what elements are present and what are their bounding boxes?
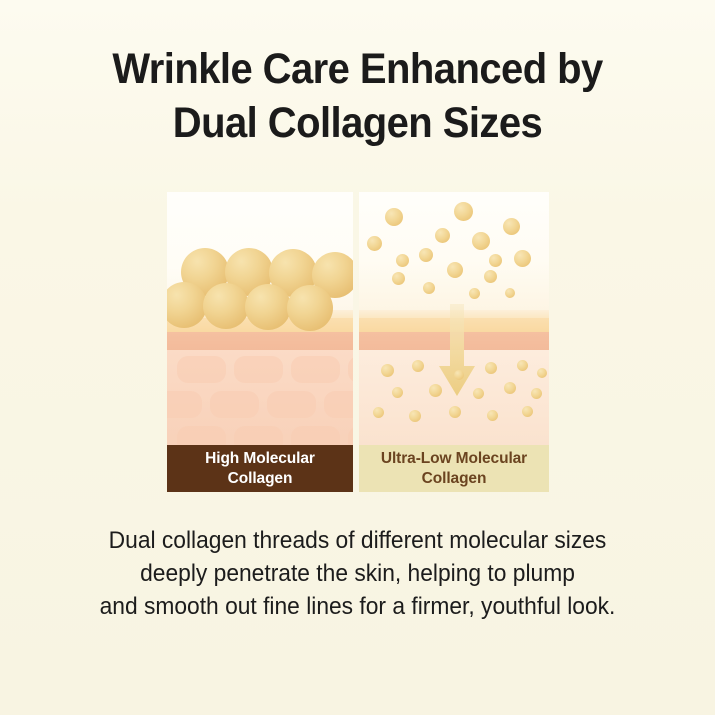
collagen-particle	[392, 272, 405, 285]
label-line-2: Collagen	[228, 469, 293, 489]
collagen-particle	[449, 406, 461, 418]
collagen-particle	[484, 270, 497, 283]
collagen-particle	[504, 382, 516, 394]
collagen-particle	[454, 370, 464, 380]
body-copy-line-3: and smooth out fine lines for a firmer, …	[18, 590, 697, 623]
collagen-cell	[210, 391, 259, 418]
promo-graphic-page: { "background_color": "#faf6e4", "title"…	[0, 0, 715, 715]
collagen-cell-row	[167, 356, 353, 383]
collagen-particle	[419, 248, 433, 262]
page-title-line-1: Wrinkle Care Enhanced by	[25, 42, 690, 96]
label-line-2: Collagen	[422, 469, 487, 489]
page-title: Wrinkle Care Enhanced by Dual Collagen S…	[25, 42, 690, 150]
label-line-1: Ultra-Low Molecular	[381, 449, 527, 469]
collagen-particle	[454, 202, 473, 221]
collagen-sphere	[287, 285, 333, 331]
label-line-1: High Molecular	[205, 449, 315, 469]
page-title-line-2: Dual Collagen Sizes	[25, 96, 690, 150]
label-band-high-molecular: High Molecular Collagen	[167, 445, 353, 492]
down-arrow-icon	[439, 304, 475, 402]
collagen-particle	[385, 208, 403, 226]
collagen-particle	[489, 254, 502, 267]
collagen-particle	[396, 254, 409, 267]
collagen-particle	[435, 228, 450, 243]
body-copy: Dual collagen threads of different molec…	[18, 524, 697, 623]
collagen-particle	[423, 282, 435, 294]
collagen-particle	[469, 288, 480, 299]
collagen-cell	[267, 391, 316, 418]
collagen-sphere	[245, 284, 291, 330]
collagen-cell	[167, 391, 202, 418]
collagen-particle	[409, 410, 421, 422]
collagen-comparison-illustration: High Molecular Collagen	[167, 192, 549, 492]
collagen-particle	[373, 407, 384, 418]
collagen-particle	[503, 218, 520, 235]
panel-high-molecular-collagen: High Molecular Collagen	[167, 192, 353, 492]
body-copy-line-2: deeply penetrate the skin, helping to pl…	[18, 557, 697, 590]
collagen-particle	[367, 236, 382, 251]
collagen-particle	[517, 360, 528, 371]
label-band-ultra-low-molecular: Ultra-Low Molecular Collagen	[359, 445, 549, 492]
collagen-particle	[412, 360, 424, 372]
collagen-particle	[537, 368, 547, 378]
collagen-particle	[487, 410, 498, 421]
body-copy-line-1: Dual collagen threads of different molec…	[18, 524, 697, 557]
collagen-particle	[531, 388, 542, 399]
collagen-particle	[381, 364, 394, 377]
skin-layer-dermis-upper-left	[167, 332, 353, 350]
collagen-particle	[485, 362, 497, 374]
collagen-particle	[514, 250, 531, 267]
collagen-particle	[473, 388, 484, 399]
panel-ultra-low-molecular-collagen: Ultra-Low Molecular Collagen	[359, 192, 549, 492]
collagen-sphere	[203, 283, 249, 329]
collagen-particle	[472, 232, 490, 250]
collagen-particle	[392, 387, 403, 398]
collagen-particle	[522, 406, 533, 417]
collagen-cell	[324, 391, 353, 418]
collagen-particle	[505, 288, 515, 298]
collagen-cell	[234, 356, 283, 383]
collagen-cell	[348, 356, 353, 383]
collagen-cell	[177, 356, 226, 383]
collagen-cell-row	[167, 391, 353, 418]
collagen-particle	[447, 262, 463, 278]
collagen-particle	[429, 384, 442, 397]
collagen-cell	[291, 356, 340, 383]
